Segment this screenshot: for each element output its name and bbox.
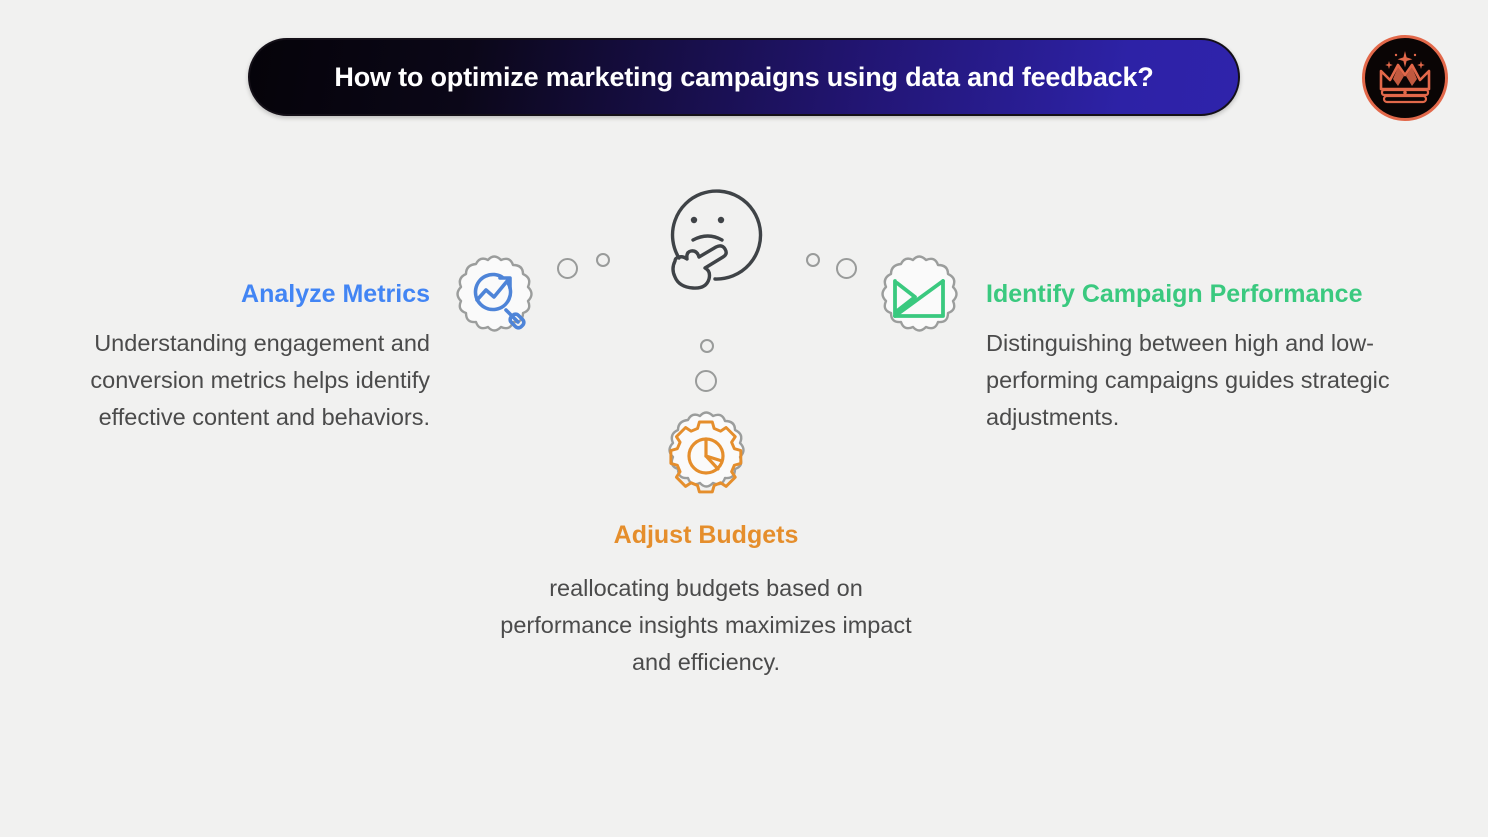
- branch-identify-campaign-performance: Identify Campaign Performance Distinguis…: [986, 280, 1456, 436]
- branch-body-analyze-metrics: Understanding engagement and conversion …: [20, 325, 430, 436]
- thought-dot: [695, 370, 717, 392]
- branch-heading-adjust-budgets: Adjust Budgets: [486, 521, 926, 550]
- thinking-face-icon: [653, 183, 763, 295]
- branch-adjust-budgets: Adjust Budgets reallocating budgets base…: [486, 521, 926, 681]
- thought-dot: [836, 258, 857, 279]
- branch-body-adjust-budgets: reallocating budgets based on performanc…: [486, 570, 926, 681]
- branch-heading-analyze-metrics: Analyze Metrics: [20, 280, 430, 309]
- title-banner: How to optimize marketing campaigns usin…: [248, 38, 1240, 116]
- crown-icon: [1372, 45, 1438, 111]
- branch-icon-adjust-budgets: [658, 408, 754, 504]
- thought-dot: [557, 258, 578, 279]
- page-title: How to optimize marketing campaigns usin…: [334, 62, 1153, 93]
- thought-dot: [806, 253, 820, 267]
- branch-body-identify-campaign-performance: Distinguishing between high and low-perf…: [986, 325, 1456, 436]
- crown-logo: [1362, 35, 1448, 121]
- branch-icon-analyze-metrics: [446, 252, 542, 348]
- branch-icon-identify-campaign-performance: [871, 252, 967, 348]
- thought-dot: [596, 253, 610, 267]
- branch-analyze-metrics: Analyze Metrics Understanding engagement…: [20, 280, 430, 436]
- branch-heading-identify-campaign-performance: Identify Campaign Performance: [986, 280, 1456, 309]
- thought-dot: [700, 339, 714, 353]
